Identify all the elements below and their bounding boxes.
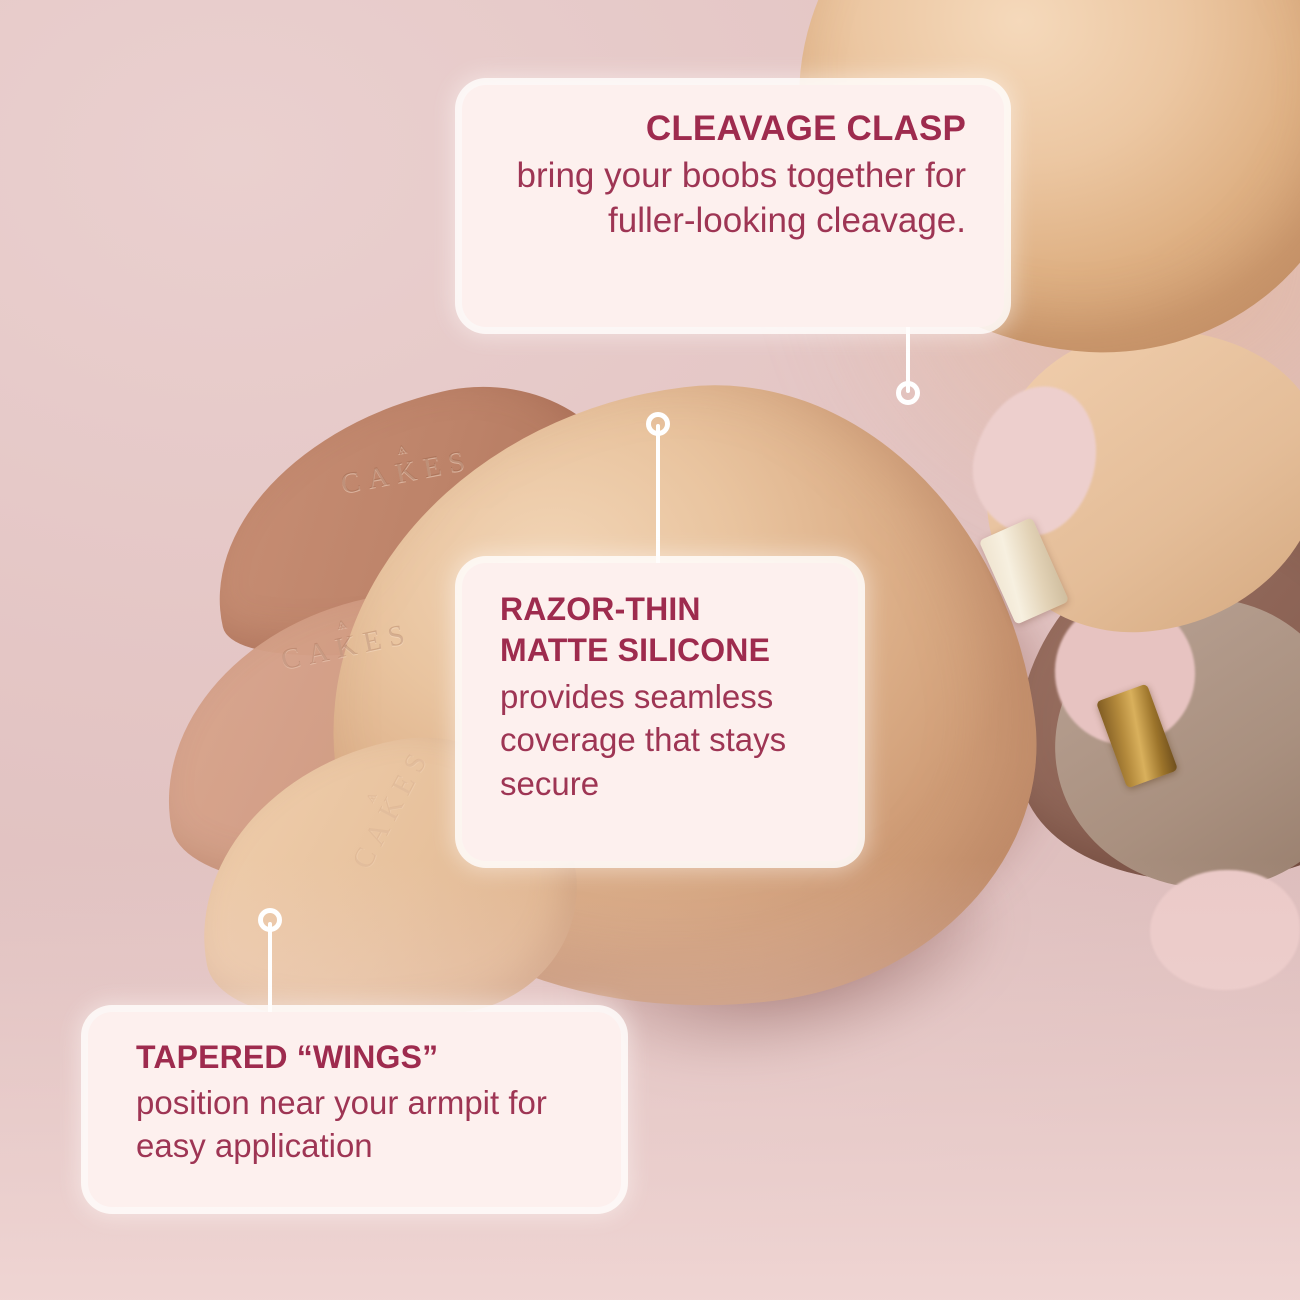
callout-title-matte-silicone-line-2: MATTE SILICONE xyxy=(500,630,828,671)
callout-card-tapered-wings: TAPERED “WINGS” position near your armpi… xyxy=(88,1012,621,1207)
leader-endpoint-matte-silicone xyxy=(646,412,670,436)
callout-card-matte-silicone: RAZOR-THIN MATTE SILICONE provides seaml… xyxy=(462,563,858,861)
callout-title-cleavage-clasp: CLEAVAGE CLASP xyxy=(492,109,966,148)
leader-line-matte-silicone xyxy=(656,424,660,566)
callout-body-cleavage-clasp: bring your boobs together for fuller-loo… xyxy=(492,154,966,244)
leader-line-tapered-wings xyxy=(268,922,272,1014)
callout-body-matte-silicone: provides seamless coverage that stays se… xyxy=(500,675,828,806)
callout-body-tapered-wings: position near your armpit for easy appli… xyxy=(136,1082,591,1166)
callout-title-matte-silicone-line-1: RAZOR-THIN xyxy=(500,589,828,630)
callout-card-cleavage-clasp: CLEAVAGE CLASP bring your boobs together… xyxy=(462,85,1004,327)
leader-endpoint-cleavage-clasp xyxy=(896,381,920,405)
leader-endpoint-tapered-wings xyxy=(258,908,282,932)
callout-title-tapered-wings: TAPERED “WINGS” xyxy=(136,1038,591,1076)
product-feature-infographic: ѧ CAKES ѧ CAKES ѧ CAKES CLEAVAGE CLASP b… xyxy=(0,0,1300,1300)
